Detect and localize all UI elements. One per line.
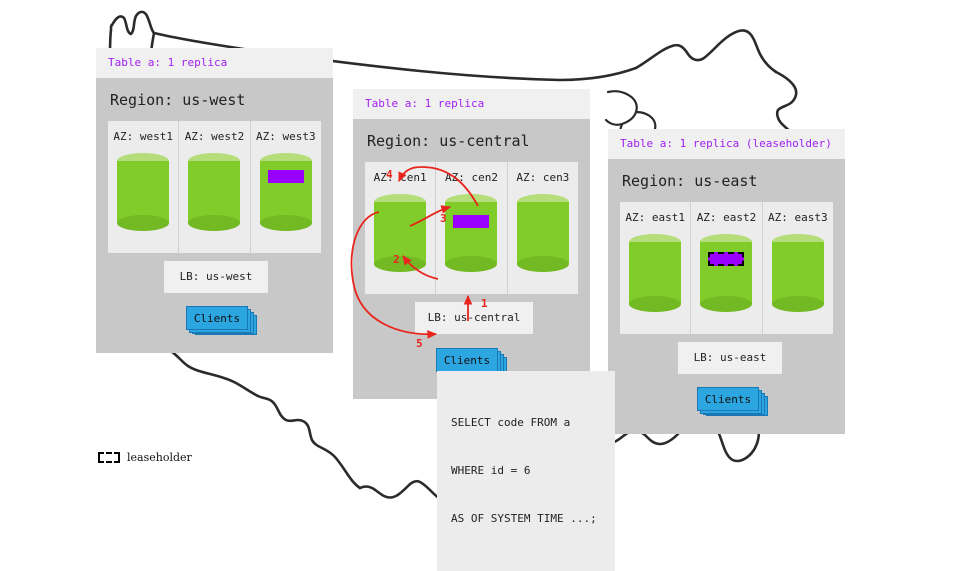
region-header-us-central: Table a: 1 replica [353, 89, 590, 119]
region-header-us-west: Table a: 1 replica [96, 48, 333, 78]
replica-east2-leaseholder[interactable] [708, 252, 744, 266]
lb-us-central[interactable]: LB: us-central [415, 302, 533, 334]
node-cylinder-west1[interactable] [117, 153, 169, 231]
az-cen2[interactable]: AZ: cen2 [436, 162, 507, 294]
az-west3[interactable]: AZ: west3 [251, 121, 321, 253]
az-label: AZ: west2 [185, 121, 245, 153]
cylinder-bottom [700, 296, 752, 312]
sql-line-3: AS OF SYSTEM TIME ...; [451, 511, 601, 527]
clients-label[interactable]: Clients [436, 348, 498, 372]
sql-query-box: SELECT code FROM a WHERE id = 6 AS OF SY… [437, 371, 615, 571]
cylinder-bottom [629, 296, 681, 312]
clients-label[interactable]: Clients [697, 387, 759, 411]
az-cen3[interactable]: AZ: cen3 [508, 162, 578, 294]
node-cylinder-east1[interactable] [629, 234, 681, 312]
node-cylinder-west2[interactable] [188, 153, 240, 231]
cylinder-bottom [445, 256, 497, 272]
az-row-us-west: AZ: west1 AZ: west2 AZ [108, 121, 321, 253]
az-label: AZ: cen2 [445, 162, 498, 194]
az-row-us-east: AZ: east1 AZ: east2 [620, 202, 833, 334]
az-east3[interactable]: AZ: east3 [763, 202, 833, 334]
arrow-label-2: 2 [393, 253, 400, 266]
cylinder-bottom [374, 256, 426, 272]
az-label: AZ: west1 [113, 121, 173, 153]
node-cylinder-cen3[interactable] [517, 194, 569, 272]
az-west1[interactable]: AZ: west1 [108, 121, 179, 253]
cylinder-body [629, 242, 681, 304]
node-cylinder-cen2[interactable] [445, 194, 497, 272]
clients-us-east[interactable]: Clients [697, 387, 759, 415]
replica-cen2[interactable] [453, 215, 489, 228]
arrow-label-5: 5 [416, 337, 423, 350]
cylinder-body [445, 202, 497, 264]
region-panel-us-west: Table a: 1 replica Region: us-west AZ: w… [96, 48, 333, 353]
az-label: AZ: east3 [768, 202, 828, 234]
region-panel-us-east: Table a: 1 replica (leaseholder) Region:… [608, 129, 845, 434]
node-cylinder-east2[interactable] [700, 234, 752, 312]
legend: leaseholder [98, 451, 192, 464]
az-east2[interactable]: AZ: east2 [691, 202, 762, 334]
node-cylinder-east3[interactable] [772, 234, 824, 312]
az-label: AZ: west3 [256, 121, 316, 153]
lb-us-west[interactable]: LB: us-west [164, 261, 268, 293]
cylinder-body [374, 202, 426, 264]
cylinder-bottom [188, 215, 240, 231]
cylinder-body [188, 161, 240, 223]
clients-label[interactable]: Clients [186, 306, 248, 330]
arrow-label-1: 1 [481, 297, 488, 310]
region-panel-us-central: Table a: 1 replica Region: us-central AZ… [353, 89, 590, 399]
cylinder-bottom [772, 296, 824, 312]
arrow-label-3: 3 [440, 212, 447, 225]
cylinder-body [517, 202, 569, 264]
az-west2[interactable]: AZ: west2 [179, 121, 250, 253]
cylinder-body [117, 161, 169, 223]
cylinder-bottom [517, 256, 569, 272]
replica-west3[interactable] [268, 170, 304, 183]
az-label: AZ: cen3 [516, 162, 569, 194]
region-title-us-east: Region: us-east [608, 159, 845, 202]
sql-line-2: WHERE id = 6 [451, 463, 601, 479]
leaseholder-swatch-icon [98, 452, 120, 463]
az-label: AZ: east1 [625, 202, 685, 234]
cylinder-bottom [260, 215, 312, 231]
node-cylinder-cen1[interactable] [374, 194, 426, 272]
region-header-us-east: Table a: 1 replica (leaseholder) [608, 129, 845, 159]
region-title-us-west: Region: us-west [96, 78, 333, 121]
diagram-canvas: 1 2 3 4 5 Table a: 1 replica Region: us-… [0, 0, 960, 540]
clients-us-west[interactable]: Clients [186, 306, 248, 334]
az-cen1[interactable]: AZ: cen1 [365, 162, 436, 294]
az-row-us-central: AZ: cen1 AZ: cen2 [365, 162, 578, 294]
az-label: AZ: cen1 [374, 162, 427, 194]
lb-us-east[interactable]: LB: us-east [678, 342, 782, 374]
az-label: AZ: east2 [697, 202, 757, 234]
cylinder-bottom [117, 215, 169, 231]
sql-line-1: SELECT code FROM a [451, 415, 601, 431]
arrow-label-4: 4 [386, 168, 393, 181]
region-title-us-central: Region: us-central [353, 119, 590, 162]
node-cylinder-west3[interactable] [260, 153, 312, 231]
az-east1[interactable]: AZ: east1 [620, 202, 691, 334]
cylinder-body [772, 242, 824, 304]
legend-label: leaseholder [127, 451, 192, 464]
